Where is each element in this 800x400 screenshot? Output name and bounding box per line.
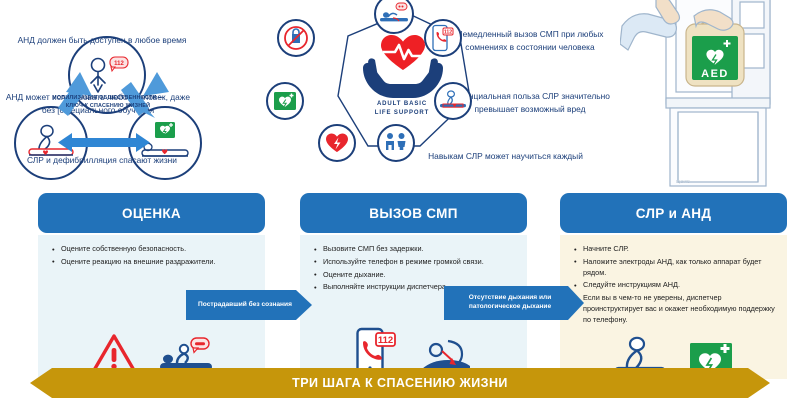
step-3-bullet-3: Следуйте инструкциям АНД. [574, 280, 779, 291]
step-3-body: Начните СЛР. Наложите электроды АНД, как… [560, 235, 787, 332]
triangle-center-label: МОБИЛИЗАЦИЯ ОБЩЕСТВЕННОСТИ — КЛЮЧ К СПАС… [52, 94, 164, 111]
hub-node-aed-availability [266, 82, 304, 120]
hub-label-right-3: Навыкам СЛР может научиться каждый [423, 150, 588, 163]
illustration-credit: ЩЭИС [676, 179, 691, 184]
step-2-title: ВЫЗОВ СМП [300, 193, 527, 233]
svg-text:112: 112 [377, 335, 392, 346]
step-1-bullet-2: Оцените реакцию на внешние раздражители. [52, 257, 257, 268]
step-3-bullet-1: Начните СЛР. [574, 244, 779, 255]
step-3-title: СЛР и АНД [560, 193, 787, 233]
svg-text:AED: AED [701, 68, 729, 80]
hub-title-line1: ADULT BASIC [337, 100, 467, 109]
step-1-bullet-1: Оцените собственную безопасность. [52, 244, 257, 255]
hands-holding-heart-icon [353, 32, 453, 104]
connector-2-label: Отсутствие дыхания или патологическое ды… [444, 286, 584, 320]
no-restriction-icon [283, 25, 309, 51]
hub-node-everyone-can-learn [377, 124, 415, 162]
hub-label-right-1: Немедленный вызов СМП при любых сомнения… [440, 28, 620, 53]
bottom-banner: ТРИ ШАГА К СПАСЕНИЮ ЖИЗНИ [30, 368, 770, 398]
step-1-title: ОЦЕНКА [38, 193, 265, 233]
community-mobilisation-triangle: 112 [0, 10, 215, 185]
connector-1-label: Пострадавший без сознания [186, 290, 312, 320]
two-people-icon [383, 131, 409, 155]
three-steps-flow: ОЦЕНКА Оцените собственную безопасность.… [0, 193, 800, 400]
step-2-bullet-2: Используйте телефон в режиме громкой свя… [314, 257, 519, 268]
adult-basic-life-support-hub: 112 [205, 0, 605, 186]
connector-arrow-2: Отсутствие дыхания или патологическое ды… [444, 286, 584, 316]
hub-title-line2: LIFE SUPPORT [337, 109, 467, 118]
step-2-bullet-3: Оцените дыхание. [314, 270, 519, 281]
aed-cabinet-illustration: AED ЩЭИС [620, 0, 800, 190]
heart-lightning-icon [324, 131, 350, 155]
step-2-bullet-1: Вызовите СМП без задержки. [314, 244, 519, 255]
hub-node-no-barriers [277, 19, 315, 57]
step-3-bullet-4: Если вы в чем-то не уверены, диспетчер п… [574, 293, 779, 325]
hub-center-title: ADULT BASIC LIFE SUPPORT [337, 100, 467, 118]
hand-taking-aed-from-cabinet-drawing: AED ЩЭИС [620, 0, 800, 190]
green-aed-sign-icon [272, 90, 298, 112]
infographic-root: 112 [0, 0, 800, 400]
step-panel-cpr-aed: СЛР и АНД Начните СЛР. Наложите электрод… [560, 193, 787, 332]
step-3-bullet-2: Наложите электроды АНД, как только аппар… [574, 257, 779, 279]
hub-node-defibrillation [318, 124, 356, 162]
banner-label: ТРИ ШАГА К СПАСЕНИЮ ЖИЗНИ [30, 368, 770, 398]
connector-arrow-1: Пострадавший без сознания [186, 290, 312, 320]
victim-recognition-icon [379, 1, 409, 27]
